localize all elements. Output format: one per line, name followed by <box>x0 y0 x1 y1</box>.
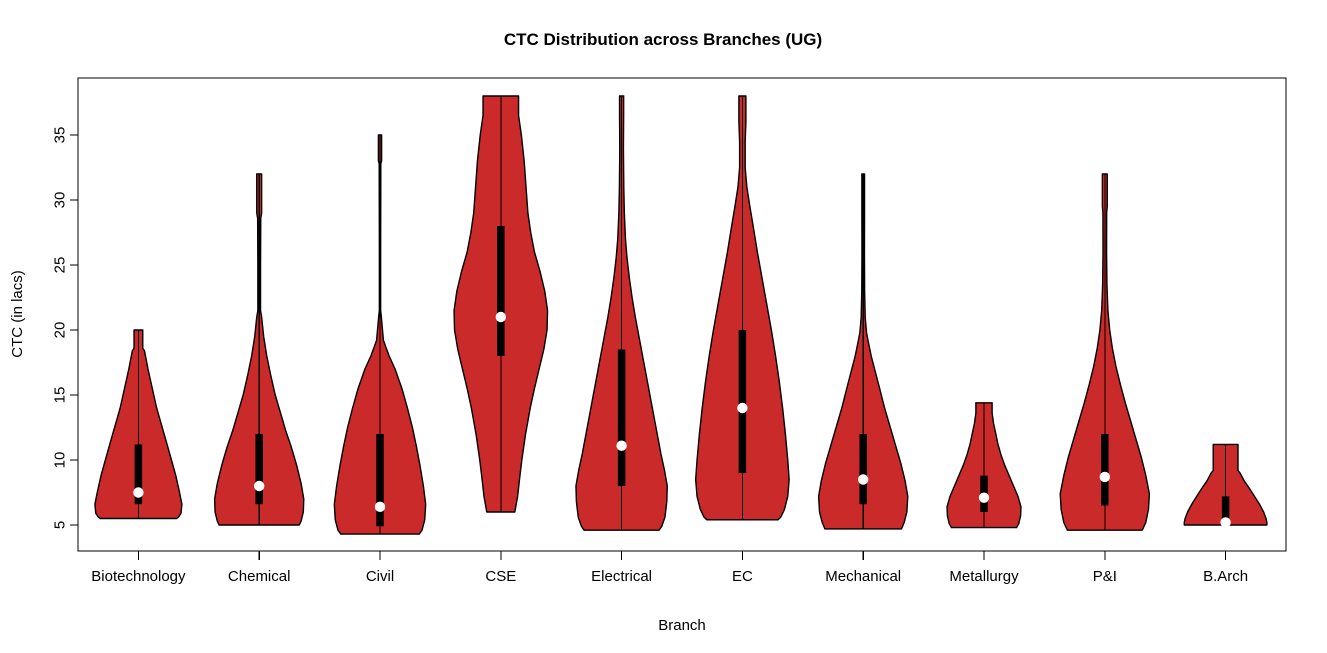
x-tick-label-metallurgy: Metallurgy <box>949 568 1019 585</box>
y-tick-label: 35 <box>52 127 69 144</box>
x-tick-label-biotechnology: Biotechnology <box>91 568 186 585</box>
median-point <box>858 474 868 484</box>
y-tick-label: 20 <box>52 322 69 339</box>
x-axis-title: Branch <box>658 617 706 634</box>
x-tick-label-p-i: P&I <box>1093 568 1117 585</box>
y-axis-title: CTC (in lacs) <box>9 270 26 358</box>
plot-svg: CTC Distribution across Branches (UG) 51… <box>0 0 1327 653</box>
y-tick-label: 5 <box>52 521 69 529</box>
y-tick-label: 10 <box>52 452 69 469</box>
median-point <box>496 312 506 322</box>
x-tick-label-cse: CSE <box>485 568 516 585</box>
y-tick-label: 15 <box>52 387 69 404</box>
median-point <box>616 441 626 451</box>
iqr-box <box>739 330 746 473</box>
plot-background <box>0 0 1327 653</box>
median-point <box>1220 517 1230 527</box>
iqr-box <box>255 434 262 504</box>
x-tick-label-ec: EC <box>732 568 753 585</box>
iqr-box <box>859 434 866 504</box>
x-tick-label-electrical: Electrical <box>591 568 652 585</box>
x-tick-label-civil: Civil <box>366 568 394 585</box>
iqr-box <box>618 350 625 487</box>
median-point <box>737 403 747 413</box>
median-point <box>979 493 989 503</box>
median-point <box>375 502 385 512</box>
iqr-box <box>1101 434 1108 506</box>
y-tick-label: 25 <box>52 257 69 274</box>
median-point <box>254 481 264 491</box>
median-point <box>133 487 143 497</box>
iqr-box <box>497 226 504 356</box>
iqr-box <box>376 434 383 526</box>
y-tick-label: 30 <box>52 192 69 209</box>
median-point <box>1100 472 1110 482</box>
x-tick-label-mechanical: Mechanical <box>825 568 901 585</box>
x-tick-label-chemical: Chemical <box>228 568 291 585</box>
x-tick-label-b-arch: B.Arch <box>1203 568 1248 585</box>
page-title: CTC Distribution across Branches (UG) <box>504 30 822 49</box>
violin-plot-canvas: CTC Distribution across Branches (UG) 51… <box>0 0 1327 653</box>
